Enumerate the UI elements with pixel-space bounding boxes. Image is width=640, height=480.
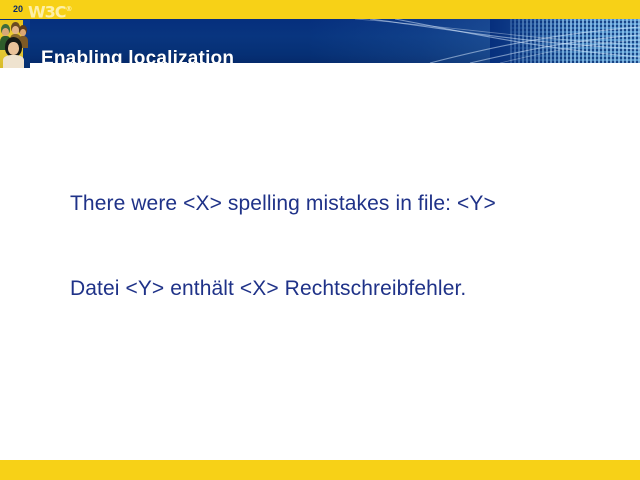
presentation-slide: 20 W3C® Enabling localization: [0, 0, 640, 480]
slide-number: 20: [13, 4, 23, 15]
photo-person-face-4: [8, 42, 19, 55]
people-photo-thumbnail: [0, 20, 30, 68]
photo-person-face-3: [20, 29, 26, 36]
header-banner: Enabling localization: [0, 19, 640, 63]
page-title: Enabling localization: [41, 47, 234, 63]
photo-person-face-1: [2, 28, 9, 36]
photo-person-face-2: [12, 26, 19, 34]
top-yellow-band: 20 W3C®: [0, 0, 640, 19]
slide-body: There were <X> spelling mistakes in file…: [70, 190, 590, 303]
message-line-german: Datei <Y> enthält <X> Rechtschreibfehler…: [70, 275, 590, 303]
photo-person-body-4: [3, 55, 24, 68]
message-line-english: There were <X> spelling mistakes in file…: [70, 190, 590, 218]
bottom-yellow-band: [0, 460, 640, 480]
registered-trademark-icon: ®: [66, 5, 73, 13]
